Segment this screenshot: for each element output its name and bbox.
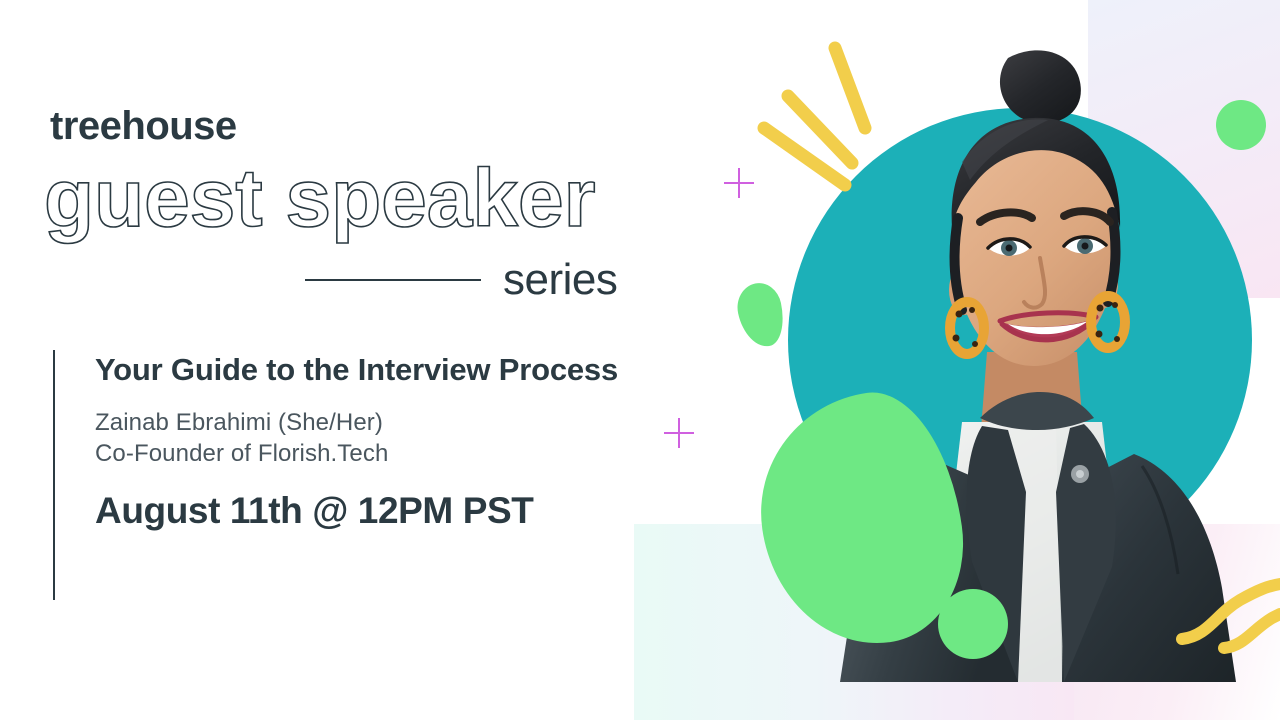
green-blob-small bbox=[733, 279, 789, 351]
series-divider-rule bbox=[305, 279, 481, 281]
talk-title: Your Guide to the Interview Process bbox=[95, 350, 618, 390]
series-row: series bbox=[305, 258, 617, 302]
guest-speaker-poster: treehouse guest speaker series Your Guid… bbox=[0, 0, 1280, 720]
green-circle-bottom bbox=[938, 589, 1008, 659]
plus-mark-upper bbox=[724, 168, 754, 198]
guest-speaker-headline: guest speaker bbox=[44, 158, 596, 240]
treehouse-wordmark: treehouse bbox=[50, 106, 237, 146]
plus-mark-lower bbox=[664, 418, 694, 448]
speaker-role: Co-Founder of Florish.Tech bbox=[95, 438, 618, 470]
event-details: Your Guide to the Interview Process Zain… bbox=[53, 350, 618, 600]
series-label: series bbox=[503, 258, 617, 302]
event-datetime: August 11th @ 12PM PST bbox=[95, 492, 618, 529]
green-circle-top-right bbox=[1216, 100, 1266, 150]
speaker-name: Zainab Ebrahimi (She/Her) bbox=[95, 407, 618, 439]
